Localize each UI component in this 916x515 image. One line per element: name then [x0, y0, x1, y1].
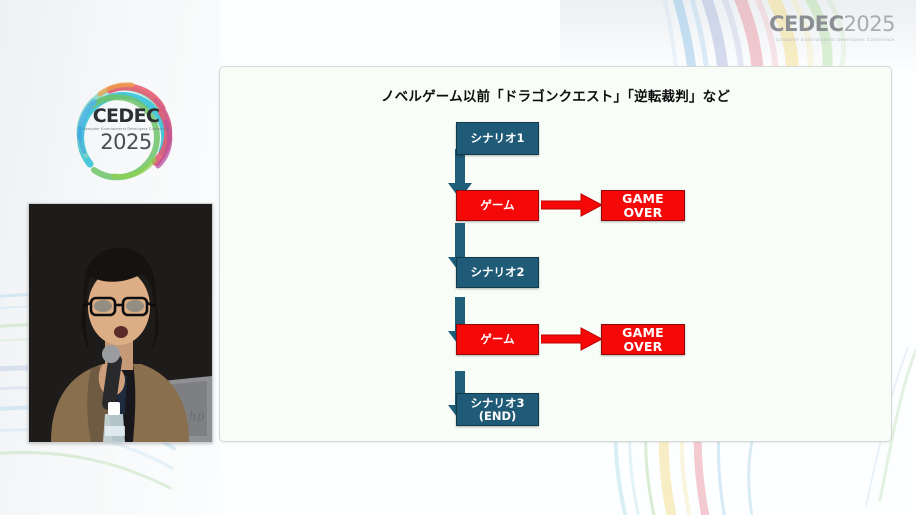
presentation-stream-view: CEDEC 2025 Computer Entertainment Develo… [0, 0, 916, 515]
svg-text:hp: hp [189, 409, 205, 423]
wordmark-name: CEDEC [769, 14, 843, 35]
cedec-wordmark-logo: CEDEC 2025 Computer Entertainment Develo… [770, 14, 895, 48]
presentation-slide: ノベルゲーム以前「ドラゴンクエスト」「逆転裁判」など [219, 66, 892, 442]
speaker-video-feed[interactable]: hp [28, 203, 213, 443]
flow-node-gameover2-label: GAME OVER [602, 326, 684, 354]
flow-node-game2-label: ゲーム [480, 333, 514, 346]
flow-arrow-to-gameover-1 [541, 193, 603, 217]
flow-node-scenario1[interactable]: シナリオ1 [456, 122, 539, 155]
cedec-circle-logo: CEDEC Computer Entertainment Developers … [70, 78, 182, 182]
flow-node-scenario1-label: シナリオ1 [470, 132, 524, 145]
flow-node-scenario2[interactable]: シナリオ2 [456, 257, 539, 288]
flow-node-game1[interactable]: ゲーム [456, 190, 539, 221]
wordmark-year: 2025 [844, 14, 895, 35]
flow-node-game1-label: ゲーム [480, 199, 514, 212]
flowchart: シナリオ1 ゲーム GAME OVER シナリオ2 ゲーム GAME OVER … [220, 67, 891, 441]
flow-node-scenario3[interactable]: シナリオ3 (END) [456, 393, 539, 426]
wordmark-subtitle: Computer Entertainment Developers Confer… [770, 37, 895, 42]
flow-node-game2[interactable]: ゲーム [456, 324, 539, 355]
flow-node-gameover1[interactable]: GAME OVER [601, 190, 685, 221]
flow-node-scenario3-label: シナリオ3 [470, 397, 524, 410]
circle-logo-year: 2025 [70, 132, 182, 153]
flow-node-scenario3-label-2: (END) [479, 410, 517, 423]
speaker-portrait: hp [29, 204, 212, 442]
flow-node-scenario2-label: シナリオ2 [470, 266, 524, 279]
flow-arrow-to-gameover-2 [541, 327, 603, 351]
flow-node-gameover1-label: GAME OVER [602, 192, 684, 220]
circle-logo-name: CEDEC [70, 107, 182, 126]
flow-node-gameover2[interactable]: GAME OVER [601, 324, 685, 355]
